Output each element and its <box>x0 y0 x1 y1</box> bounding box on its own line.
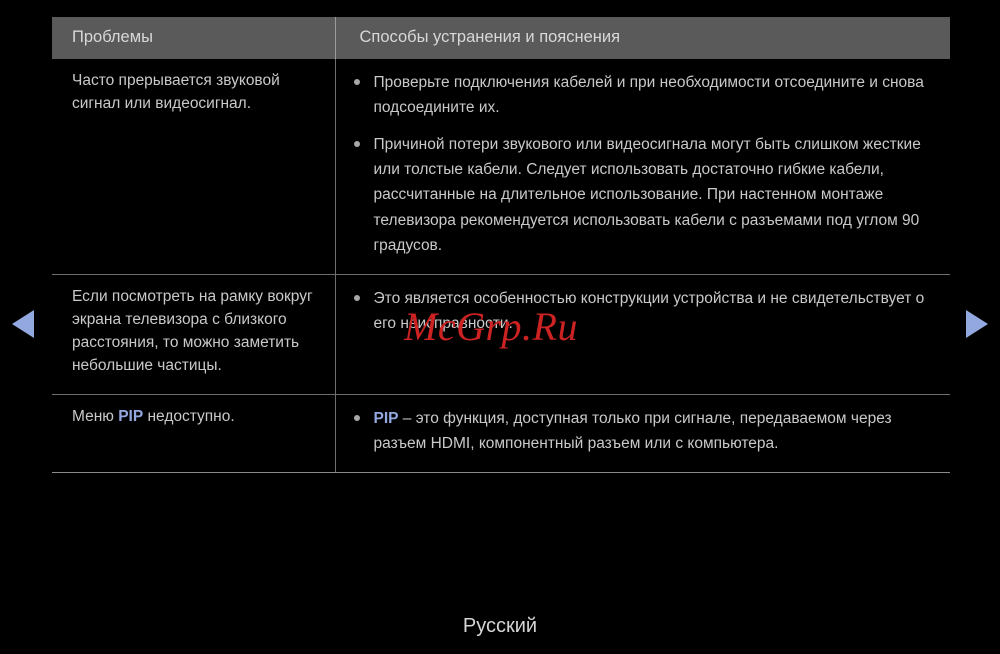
table-row: Часто прерывается звуковой сигнал или ви… <box>52 59 950 274</box>
table-header: Проблемы Способы устранения и пояснения <box>52 17 950 59</box>
text-fragment: Проверьте подключения кабелей и при необ… <box>374 74 924 116</box>
solution-cell: Проверьте подключения кабелей и при необ… <box>335 59 950 274</box>
problem-cell: Часто прерывается звуковой сигнал или ви… <box>52 59 335 274</box>
site-watermark: McGrp.Ru <box>404 303 578 350</box>
solution-list-item: Причиной потери звукового или видеосигна… <box>346 132 939 258</box>
problem-cell: Если посмотреть на рамку вокруг экрана т… <box>52 274 335 394</box>
troubleshooting-table-container: Проблемы Способы устранения и пояснения … <box>52 17 950 473</box>
solution-list: Проверьте подключения кабелей и при необ… <box>346 70 939 258</box>
bullet-icon <box>354 141 360 147</box>
bullet-icon <box>354 415 360 421</box>
table-body: Часто прерывается звуковой сигнал или ви… <box>52 59 950 472</box>
problem-cell: Меню PIP недоступно. <box>52 394 335 472</box>
solution-list-item: Проверьте подключения кабелей и при необ… <box>346 70 939 120</box>
manual-page: Проблемы Способы устранения и пояснения … <box>0 0 1000 654</box>
text-fragment: недоступно. <box>143 408 234 425</box>
bullet-icon <box>354 295 360 301</box>
text-fragment: – это функция, доступная только при сигн… <box>374 410 892 452</box>
text-fragment: Меню <box>72 408 118 425</box>
table-header-row: Проблемы Способы устранения и пояснения <box>52 17 950 59</box>
column-header-solutions: Способы устранения и пояснения <box>335 17 950 59</box>
solution-cell: PIP – это функция, доступная только при … <box>335 394 950 472</box>
troubleshooting-table: Проблемы Способы устранения и пояснения … <box>52 17 950 473</box>
table-row: Меню PIP недоступно.PIP – это функция, д… <box>52 394 950 472</box>
text-fragment: Часто прерывается звуковой сигнал или ви… <box>72 72 280 112</box>
column-header-problems: Проблемы <box>52 17 335 59</box>
next-page-arrow-icon[interactable] <box>966 310 988 338</box>
bullet-icon <box>354 79 360 85</box>
footer-language-label: Русский <box>0 615 1000 638</box>
solution-list-item: PIP – это функция, доступная только при … <box>346 406 939 456</box>
previous-page-arrow-icon[interactable] <box>12 310 34 338</box>
text-fragment: Если посмотреть на рамку вокруг экрана т… <box>72 288 313 374</box>
text-fragment: Причиной потери звукового или видеосигна… <box>374 136 921 253</box>
solution-list: PIP – это функция, доступная только при … <box>346 406 939 456</box>
keyword-pip: PIP <box>374 410 399 427</box>
keyword-pip: PIP <box>118 408 143 425</box>
